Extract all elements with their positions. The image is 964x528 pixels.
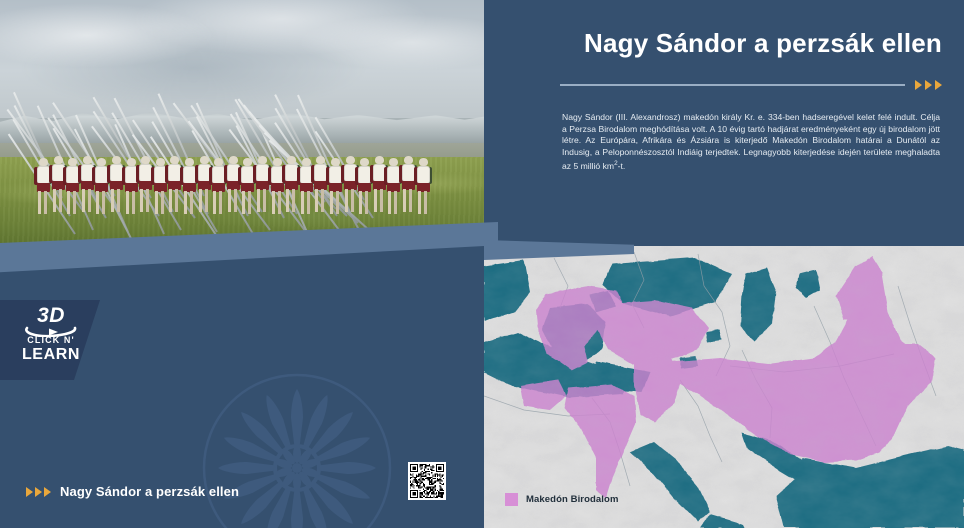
footer-title: Nagy Sándor a perzsák ellen [60,484,239,499]
legend-label: Makedón Birodalom [526,494,619,505]
triangle-right-icon [26,487,51,497]
vergina-sun-watermark [202,373,392,528]
page-title: Nagy Sándor a perzsák ellen [584,28,942,59]
title-rule-row [560,80,942,90]
horizontal-rule [560,84,905,86]
learn-text: LEARN [12,346,90,363]
qr-code[interactable] [408,462,446,500]
slide-root: 3D CLICK N' LEARN Nagy Sándor a perzsák … [0,0,964,528]
macedonian-empire-map[interactable]: Makedón Birodalom [484,246,964,528]
curved-arrow-icon [12,324,90,335]
three-d-text: 3D [12,306,90,326]
macedonian-phalanx-photo [0,0,484,246]
soldier-row [36,152,436,214]
map-legend: Makedón Birodalom [505,493,619,506]
legend-swatch-icon [505,493,518,506]
three-d-click-n-learn-logo[interactable]: 3D CLICK N' LEARN [12,306,90,363]
body-paragraph: Nagy Sándor (III. Alexandrosz) makedón k… [562,112,940,173]
body-paragraph-tail: -t. [618,161,626,171]
footer-label: Nagy Sándor a perzsák ellen [26,484,239,499]
triangle-right-icon [915,80,942,90]
